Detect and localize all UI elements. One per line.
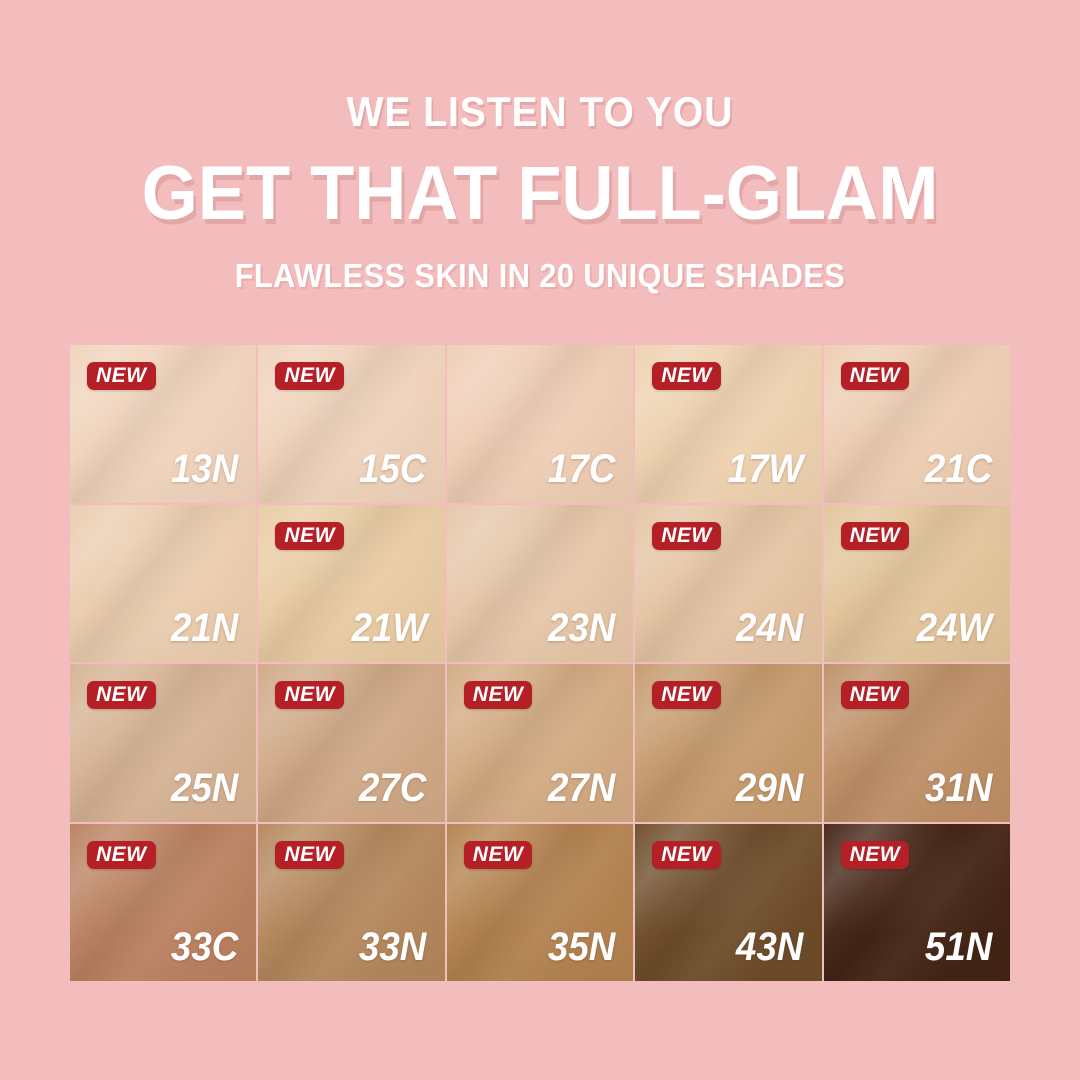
shade-swatch[interactable]: NEW33C [70, 824, 256, 982]
new-badge: NEW [275, 362, 344, 390]
shade-code-label: 17W [728, 449, 804, 489]
shade-swatch[interactable]: NEW25N [70, 664, 256, 822]
shade-code-label: 15C [359, 449, 427, 489]
shade-swatch[interactable]: NEW27C [258, 664, 444, 822]
new-badge: NEW [275, 522, 344, 550]
new-badge: NEW [841, 681, 910, 709]
shade-swatch[interactable]: NEW27N [447, 664, 633, 822]
shade-swatch[interactable]: NEW35N [447, 824, 633, 982]
shade-swatch[interactable]: NEW51N [824, 824, 1010, 982]
shade-swatch[interactable]: NEW17C [447, 345, 633, 503]
shade-code-label: 13N [171, 449, 239, 489]
shade-code-label: 21N [171, 608, 239, 648]
shade-swatch[interactable]: NEW24W [824, 505, 1010, 663]
new-badge: NEW [275, 681, 344, 709]
shade-code-label: 25N [171, 768, 239, 808]
new-badge: NEW [841, 522, 910, 550]
shade-swatch[interactable]: NEW21W [258, 505, 444, 663]
shade-code-label: 33C [171, 927, 239, 967]
new-badge: NEW [275, 841, 344, 869]
shade-swatch[interactable]: NEW33N [258, 824, 444, 982]
new-badge: NEW [652, 522, 721, 550]
new-badge: NEW [841, 362, 910, 390]
shade-swatch[interactable]: NEW23N [447, 505, 633, 663]
shade-swatch[interactable]: NEW13N [70, 345, 256, 503]
new-badge: NEW [464, 681, 533, 709]
shade-code-label: 35N [548, 927, 616, 967]
shade-code-label: 29N [736, 768, 804, 808]
shade-code-label: 43N [736, 927, 804, 967]
shade-code-label: 24N [736, 608, 804, 648]
shade-swatch[interactable]: NEW21N [70, 505, 256, 663]
new-badge: NEW [652, 362, 721, 390]
shade-code-label: 33N [359, 927, 427, 967]
shade-swatch[interactable]: NEW43N [635, 824, 821, 982]
shade-code-label: 21C [924, 449, 992, 489]
shade-code-label: 51N [924, 927, 992, 967]
shade-swatch[interactable]: NEW21C [824, 345, 1010, 503]
header-subline: FLAWLESS SKIN IN 20 UNIQUE SHADES [38, 257, 1042, 295]
new-badge: NEW [652, 681, 721, 709]
shade-grid: NEW13NNEW15CNEW17CNEW17WNEW21CNEW21NNEW2… [70, 345, 1010, 981]
new-badge: NEW [652, 841, 721, 869]
header-headline: GET THAT FULL-GLAM [27, 150, 1053, 237]
shade-code-label: 27C [359, 768, 427, 808]
new-badge: NEW [87, 681, 156, 709]
shade-code-label: 23N [548, 608, 616, 648]
shade-code-label: 31N [924, 768, 992, 808]
shade-swatch[interactable]: NEW24N [635, 505, 821, 663]
new-badge: NEW [841, 841, 910, 869]
shade-swatch[interactable]: NEW17W [635, 345, 821, 503]
new-badge: NEW [87, 362, 156, 390]
new-badge: NEW [87, 841, 156, 869]
shade-code-label: 27N [548, 768, 616, 808]
shade-code-label: 21W [351, 608, 427, 648]
shade-code-label: 17C [548, 449, 616, 489]
shade-code-label: 24W [916, 608, 992, 648]
shade-swatch[interactable]: NEW15C [258, 345, 444, 503]
shade-swatch[interactable]: NEW29N [635, 664, 821, 822]
new-badge: NEW [464, 841, 533, 869]
shade-swatch[interactable]: NEW31N [824, 664, 1010, 822]
promo-header: WE LISTEN TO YOU GET THAT FULL-GLAM FLAW… [0, 0, 1080, 295]
header-kicker: WE LISTEN TO YOU [38, 88, 1042, 136]
